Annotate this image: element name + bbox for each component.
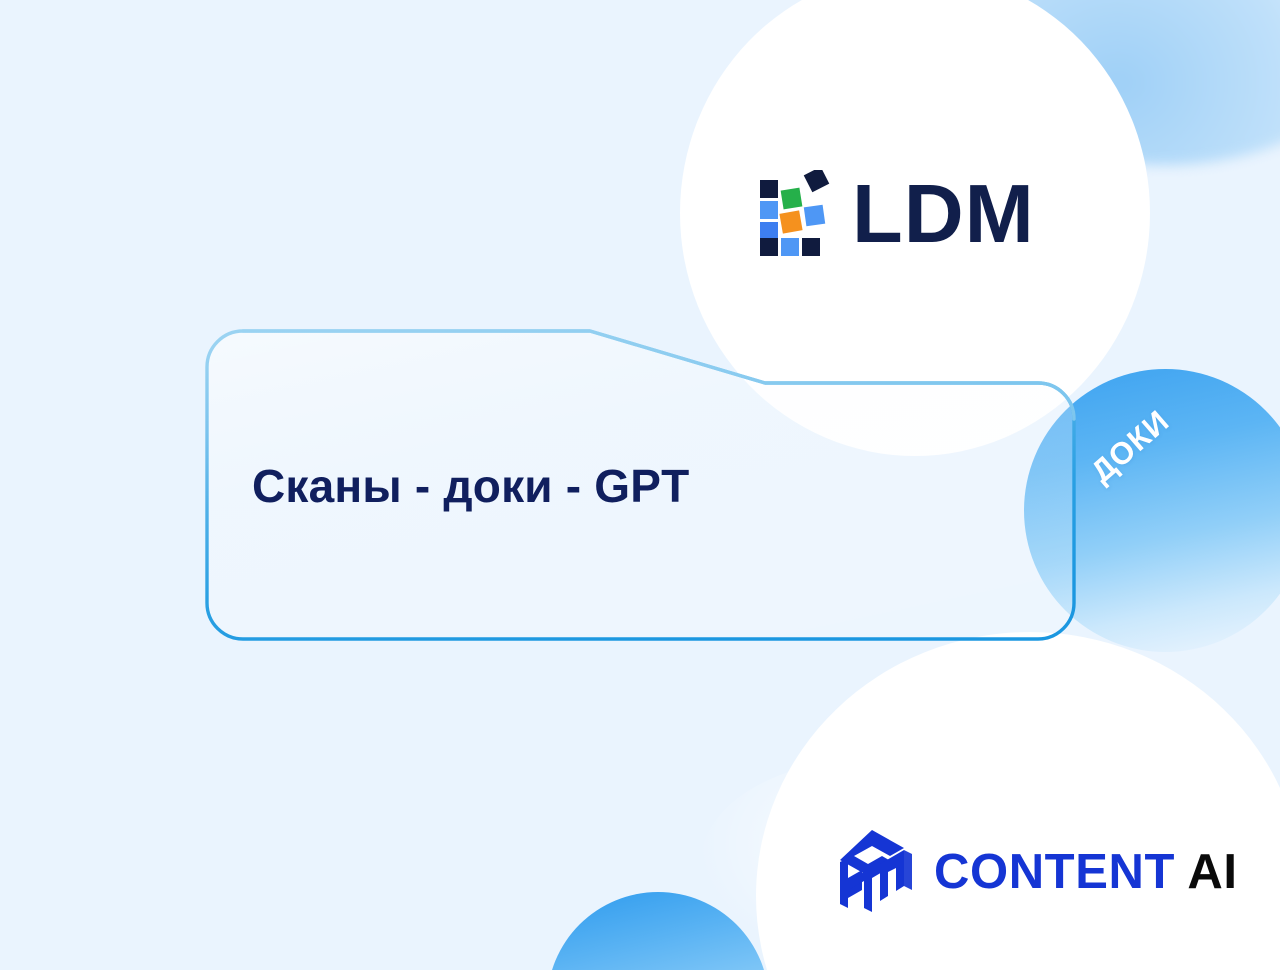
- content-ai-word-secondary: AI: [1175, 845, 1238, 899]
- doki-badge-label: ДОКИ: [1084, 403, 1177, 490]
- decor-circle-white-bottom: [766, 640, 1280, 970]
- content-ai-word-primary: CONTENT: [934, 845, 1175, 899]
- ldm-wordmark: LDM: [852, 172, 1035, 255]
- decor-circle-white-bottom-glow: [756, 632, 1280, 970]
- content-ai-cube-mark-icon: [830, 828, 914, 916]
- content-ai-logo-lockup: CONTENT AI: [830, 828, 1238, 916]
- decor-circle-blue-bottom: [547, 892, 769, 970]
- ldm-squares-mark-icon: [760, 170, 834, 256]
- page-title: Сканы - доки - GPT: [252, 459, 689, 513]
- ldm-logo-lockup: LDM: [760, 170, 1035, 256]
- content-ai-wordmark: CONTENT AI: [934, 848, 1238, 897]
- decor-blob-top-right: [930, 0, 1280, 165]
- slide-canvas: ДОКИ: [0, 0, 1280, 970]
